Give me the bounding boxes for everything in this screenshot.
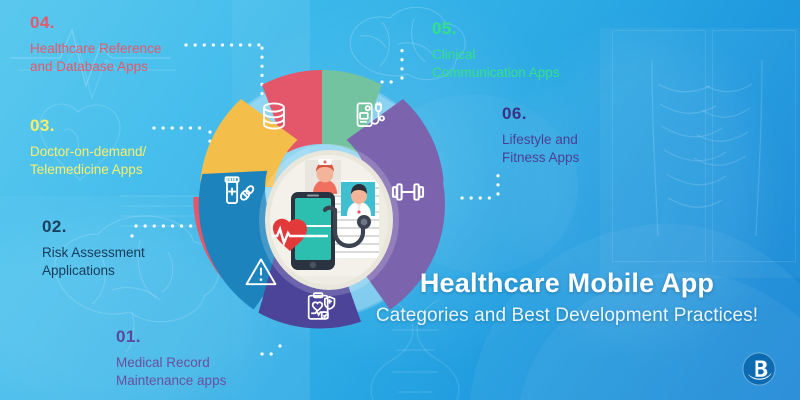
callout-06[interactable]: 06. Lifestyle and Fitness Apps: [502, 105, 682, 167]
callout-05[interactable]: 05. Clinical Communication Apps: [432, 20, 632, 82]
page-title: Healthcare Mobile App: [352, 268, 782, 299]
callout-05-number: 05.: [432, 20, 632, 37]
callout-02[interactable]: 02. Risk Assessment Applications: [42, 218, 212, 280]
callout-06-number: 06.: [502, 105, 682, 122]
callout-02-number: 02.: [42, 218, 212, 235]
biztechcs-logo[interactable]: [742, 352, 776, 386]
callout-04-label: Healthcare Reference and Database Apps: [30, 40, 210, 76]
infographic-canvas: 04. Healthcare Reference and Database Ap…: [0, 0, 800, 400]
callout-06-label: Lifestyle and Fitness Apps: [502, 131, 682, 167]
callout-01[interactable]: 01. Medical Record Maintenance apps: [116, 328, 296, 390]
callout-02-label: Risk Assessment Applications: [42, 244, 212, 280]
page-subtitle: Categories and Best Development Practice…: [352, 305, 782, 327]
callout-03[interactable]: 03. Doctor-on-demand/ Telemedicine Apps: [30, 117, 210, 179]
connector-06: [458, 164, 522, 212]
callout-04[interactable]: 04. Healthcare Reference and Database Ap…: [30, 14, 210, 76]
callout-05-label: Clinical Communication Apps: [432, 46, 632, 82]
callout-03-number: 03.: [30, 117, 210, 134]
callout-04-number: 04.: [30, 14, 210, 31]
callout-01-number: 01.: [116, 328, 296, 345]
headline-block: Healthcare Mobile App Categories and Bes…: [352, 268, 782, 327]
callout-03-label: Doctor-on-demand/ Telemedicine Apps: [30, 143, 210, 179]
callout-01-label: Medical Record Maintenance apps: [116, 354, 296, 390]
